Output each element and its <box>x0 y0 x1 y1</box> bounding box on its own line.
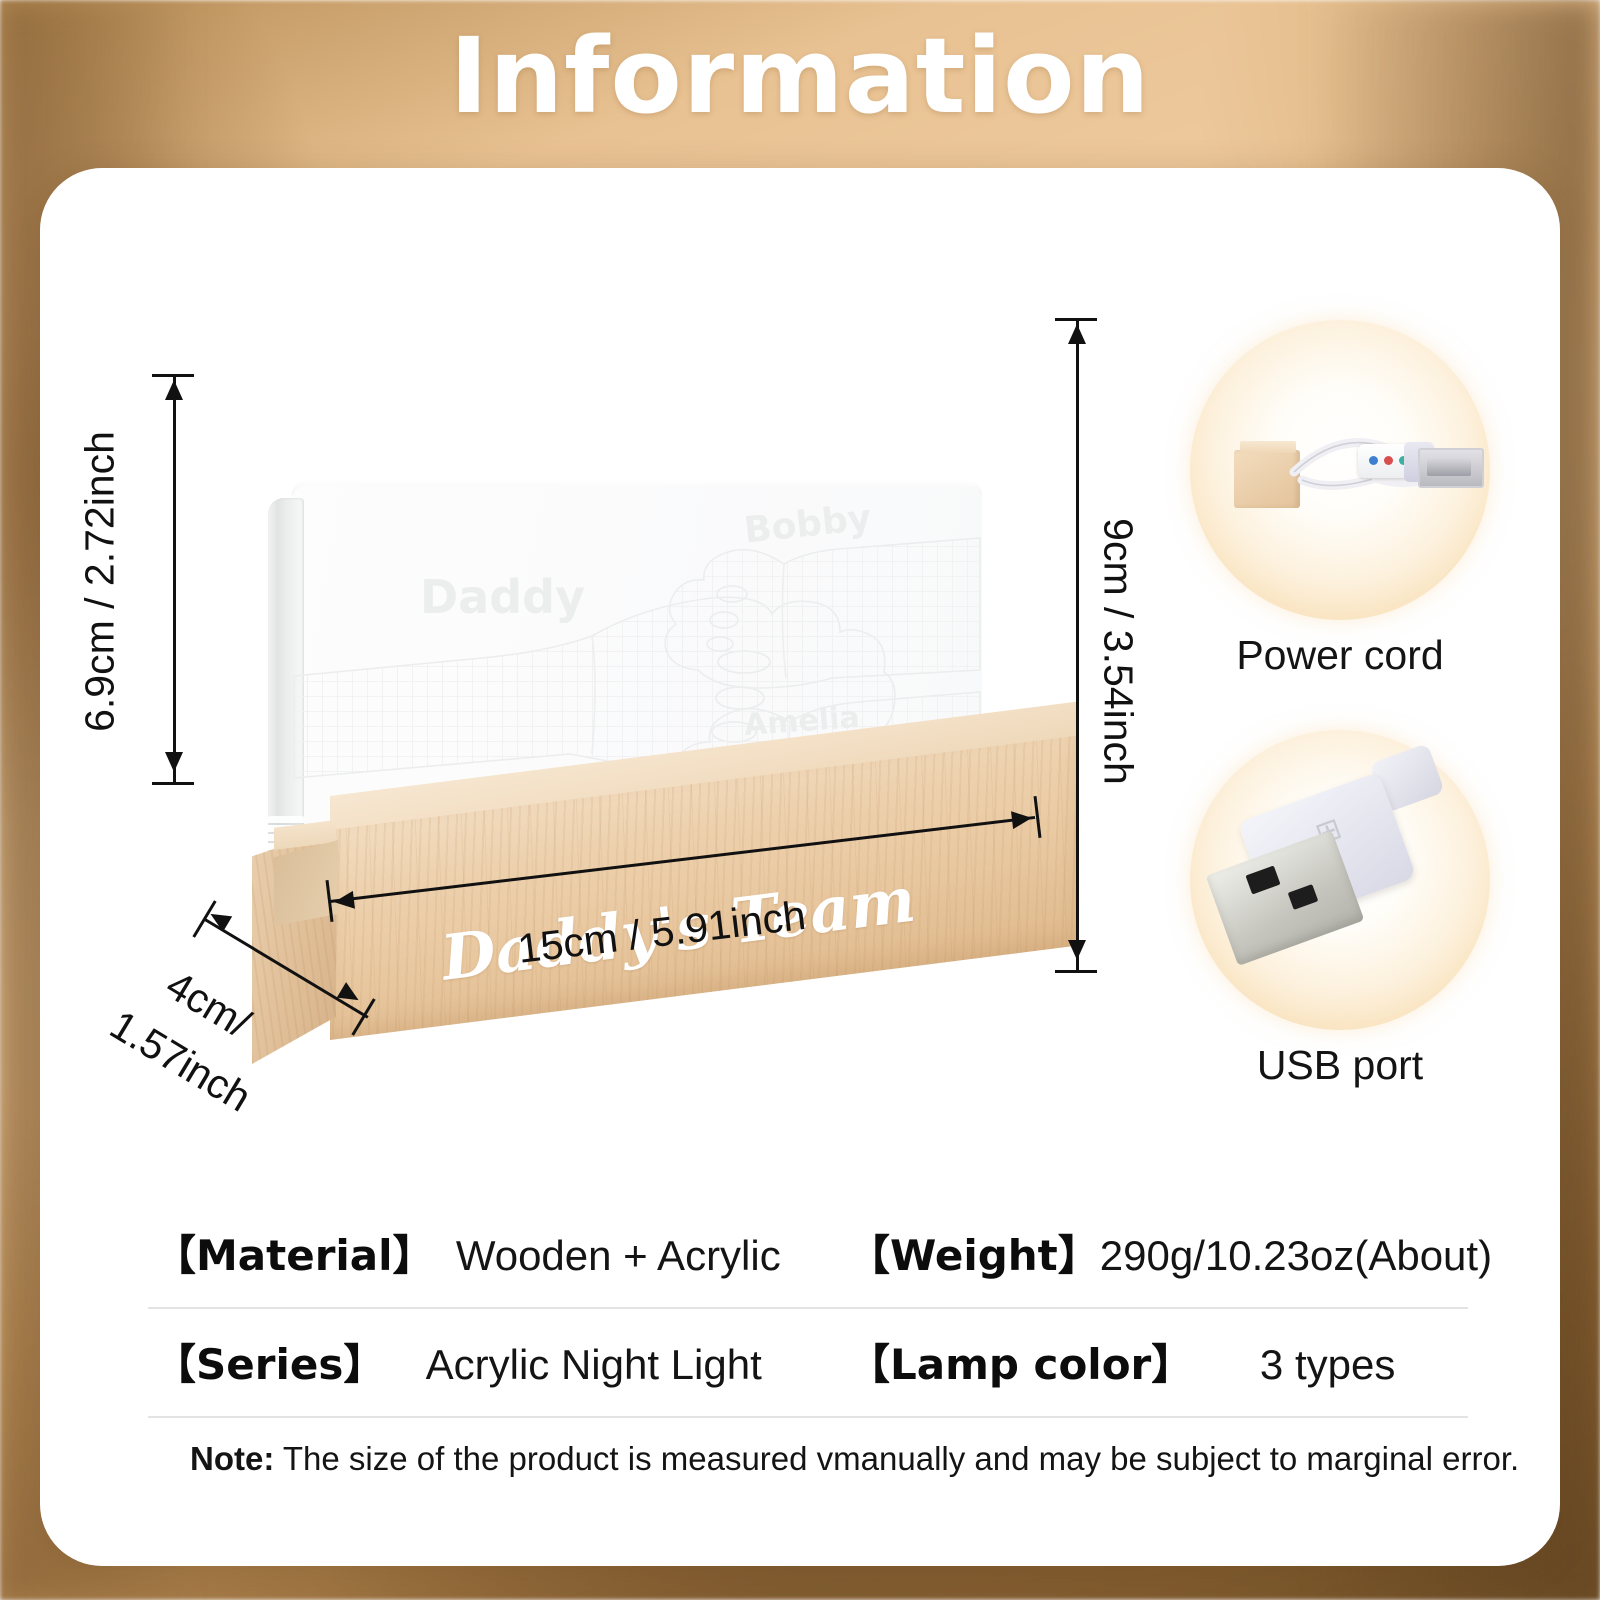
accessory-power-cord: Power cord <box>1190 320 1490 620</box>
accessory-usb-port: ⊞ USB port <box>1190 730 1490 1030</box>
usb-connector-icon <box>1418 448 1484 488</box>
note-text: Note: The size of the product is measure… <box>190 1440 1530 1478</box>
spec-table: 【Material】 Wooden + Acrylic 【Weight】 290… <box>148 1200 1468 1418</box>
spec-key-weight: 【Weight】 <box>848 1222 1100 1283</box>
spec-key-material: 【Material】 <box>154 1222 435 1283</box>
usb-port-photo: ⊞ <box>1190 730 1490 1030</box>
spec-value-material: Wooden + Acrylic <box>435 1232 802 1280</box>
spec-row: 【Series】 Acrylic Night Light 【Lamp color… <box>148 1309 1468 1418</box>
dimension-total-height-label: 9cm / 3.54inch <box>1095 472 1142 832</box>
note-body: The size of the product is measured vman… <box>274 1440 1519 1477</box>
engraved-name-daddy: Daddy <box>420 570 585 624</box>
spec-key-lamp-color: 【Lamp color】 <box>848 1331 1193 1392</box>
spec-cell-series: 【Series】 Acrylic Night Light <box>148 1309 808 1418</box>
spec-cell-material: 【Material】 Wooden + Acrylic <box>148 1200 808 1309</box>
power-cord-photo <box>1190 320 1490 620</box>
spec-cell-weight: 【Weight】 290g/10.23oz(About) <box>808 1200 1468 1309</box>
spec-cell-lamp-color: 【Lamp color】 3 types <box>808 1309 1468 1418</box>
accessory-label-power-cord: Power cord <box>1190 632 1490 679</box>
spec-row: 【Material】 Wooden + Acrylic 【Weight】 290… <box>148 1200 1468 1309</box>
spec-value-lamp-color: 3 types <box>1193 1341 1462 1389</box>
accessory-label-usb-port: USB port <box>1190 1042 1490 1089</box>
dimension-panel-height-label: 6.9cm / 2.72inch <box>77 412 124 752</box>
page-title: Information <box>0 22 1600 131</box>
spec-value-series: Acrylic Night Light <box>385 1341 802 1389</box>
spec-value-weight: 290g/10.23oz(About) <box>1100 1232 1492 1280</box>
info-card: Daddy Bobby Amelia Daddy's Team 6.9cm / … <box>40 168 1560 1566</box>
note-prefix: Note: <box>190 1440 274 1477</box>
spec-key-series: 【Series】 <box>154 1331 385 1392</box>
